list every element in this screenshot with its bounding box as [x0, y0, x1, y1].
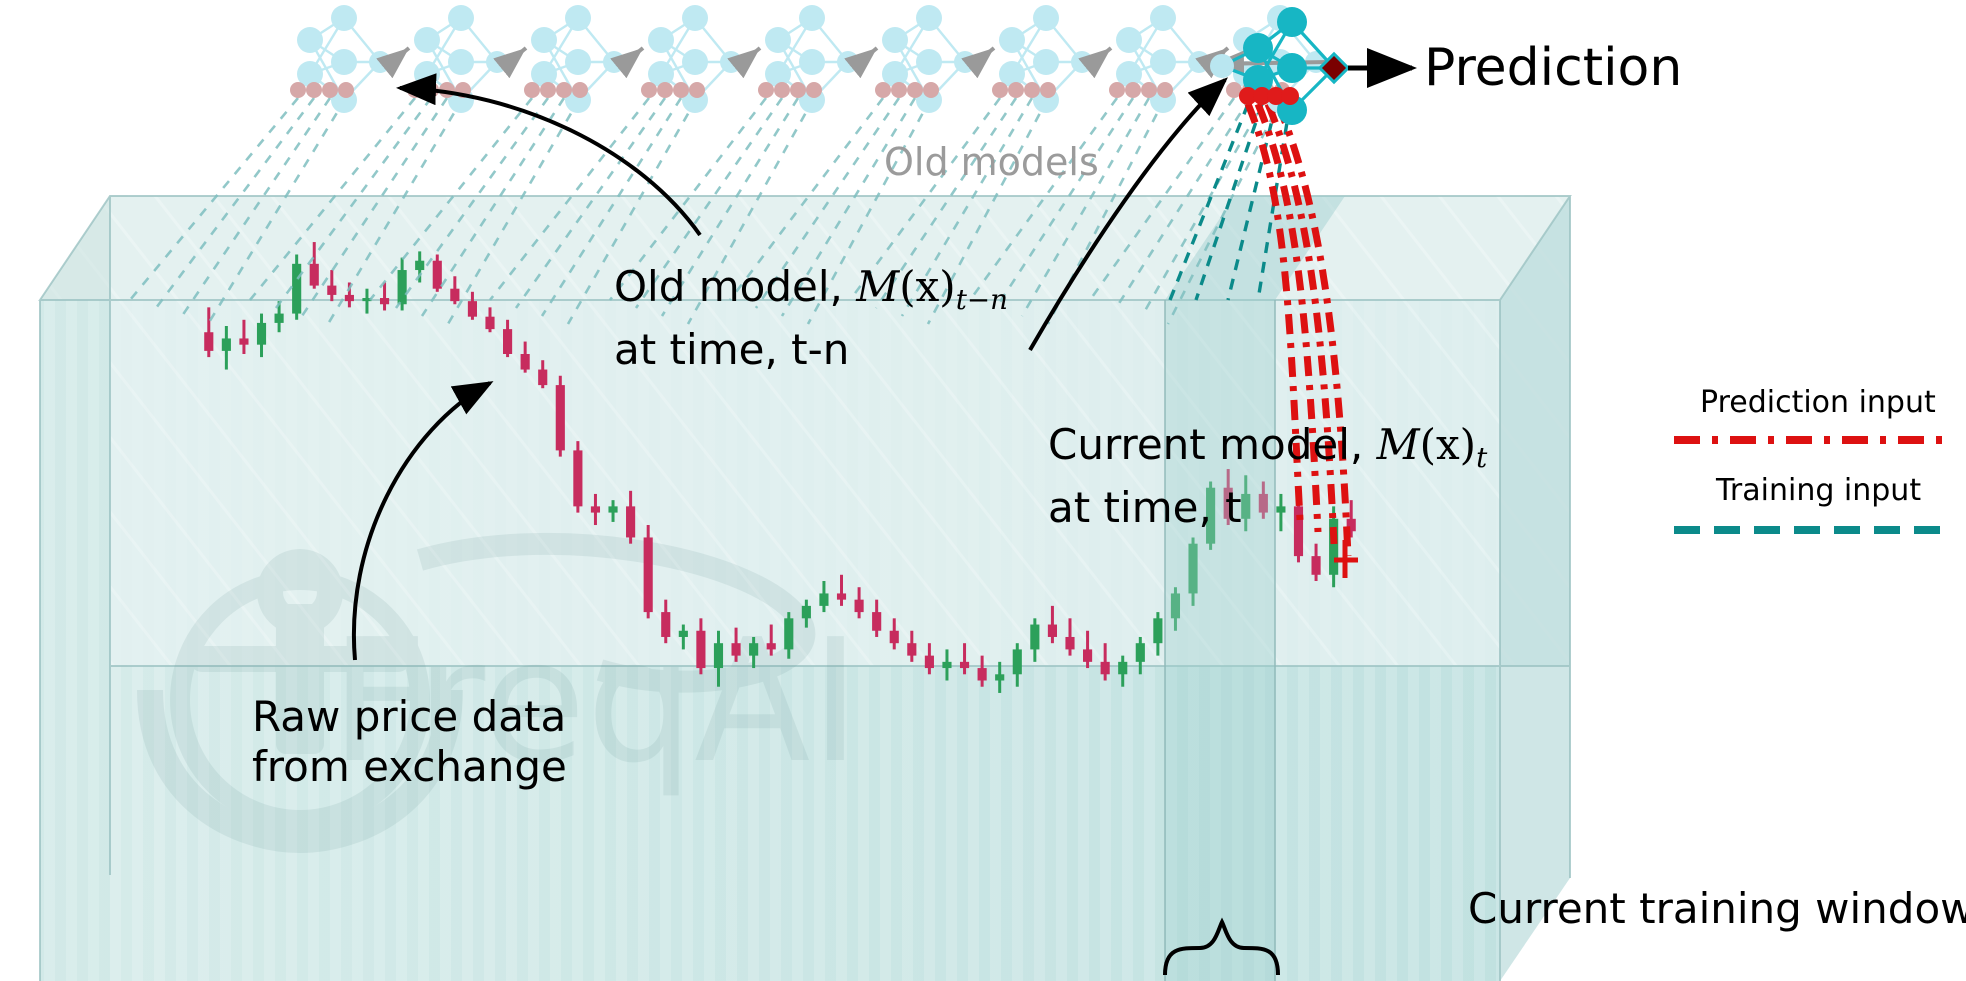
- model-progression-arrow: [626, 48, 643, 62]
- candle-body: [292, 264, 301, 314]
- nn-node: [799, 49, 825, 75]
- candle-body: [1013, 649, 1022, 674]
- candle-body: [978, 668, 987, 680]
- candle-body: [310, 264, 319, 286]
- candle-body: [591, 506, 600, 512]
- candle-body: [1048, 625, 1057, 637]
- nn-node: [1033, 49, 1059, 75]
- nn-node-input-old: [774, 82, 790, 98]
- old-model-math-m: M: [856, 262, 899, 311]
- current-model-annotation: Current model, M(x)tat time, t: [1048, 420, 1487, 533]
- candle-body: [890, 631, 899, 643]
- nn-node: [448, 49, 474, 75]
- nn-node-input-old: [1008, 82, 1024, 98]
- nn-node-input-old: [572, 82, 588, 98]
- candle-body: [925, 656, 934, 668]
- nn-node-input-old: [689, 82, 705, 98]
- nn-node-input-old: [1109, 82, 1125, 98]
- nn-node-input-old: [1141, 82, 1157, 98]
- nn-node-input-old: [1125, 82, 1141, 98]
- candle-body: [538, 370, 547, 386]
- candle-body: [1065, 637, 1074, 649]
- current-model-math-m: M: [1377, 420, 1420, 469]
- nn-node: [882, 27, 908, 53]
- nn-node-input-old: [1040, 82, 1056, 98]
- nn-node-input-old: [657, 82, 673, 98]
- candle-body: [450, 289, 459, 301]
- nn-node-input-old: [673, 82, 689, 98]
- candle-body: [626, 506, 635, 537]
- nn-node-input-old: [1157, 82, 1173, 98]
- candle-body: [521, 354, 530, 370]
- candle-body: [1030, 625, 1039, 650]
- nn-node: [1277, 7, 1307, 37]
- nn-node-output: [720, 51, 742, 73]
- model-progression-arrow: [1094, 48, 1111, 62]
- old-models-label: Old models: [884, 140, 1099, 184]
- nn-node-input-old: [524, 82, 540, 98]
- nn-node: [682, 5, 708, 31]
- candle-body: [644, 537, 653, 612]
- candle-body: [714, 643, 723, 668]
- old-model-math-paren: (x): [899, 262, 955, 311]
- nn-node-input-old: [540, 82, 556, 98]
- model-progression-arrow: [860, 48, 877, 62]
- nn-node-input-old: [806, 82, 822, 98]
- model-progression-arrow: [743, 48, 760, 62]
- candle-body: [942, 662, 951, 668]
- current-model-text-pre: Current model,: [1048, 420, 1377, 469]
- candle-body: [1083, 649, 1092, 661]
- raw-price-line-1: Raw price data: [252, 692, 566, 741]
- nn-node: [682, 49, 708, 75]
- nn-node-output: [1071, 51, 1093, 73]
- nn-node-output: [837, 51, 859, 73]
- nn-node-input-old: [322, 82, 338, 98]
- candle-body: [907, 643, 916, 655]
- current-training-window-label: Current training window: [1468, 884, 1966, 934]
- nn-node-input-old: [758, 82, 774, 98]
- nn-node-output: [486, 51, 508, 73]
- model-progression-arrow: [509, 48, 526, 62]
- candle-body: [222, 338, 231, 350]
- nn-node-input-old: [923, 82, 939, 98]
- candle-body: [573, 450, 582, 506]
- candle-body: [1101, 662, 1110, 674]
- nn-node: [1116, 27, 1142, 53]
- nn-node: [916, 49, 942, 75]
- nn-node-output: [1188, 51, 1210, 73]
- box-right-face: [1500, 196, 1570, 981]
- old-model-math-subscript: t−n: [956, 283, 1008, 316]
- old-model-text-line2: at time, t-n: [614, 325, 849, 374]
- candle-body: [661, 612, 670, 637]
- candle-body: [556, 385, 565, 450]
- current-model-math-paren: (x): [1420, 420, 1476, 469]
- candle-body: [802, 606, 811, 618]
- nn-node: [916, 5, 942, 31]
- candle-body: [767, 643, 776, 649]
- diagram-canvas: FreqAI: [0, 0, 1966, 981]
- candle-body: [485, 317, 494, 329]
- candle-body: [960, 662, 969, 668]
- candle-body: [837, 593, 846, 599]
- nn-node: [448, 5, 474, 31]
- candle-body: [1118, 662, 1127, 674]
- current-model-math-subscript: t: [1476, 441, 1487, 474]
- nn-node-output: [369, 51, 391, 73]
- candle-body: [749, 643, 758, 655]
- legend-label-training-input: Training input: [1716, 473, 1921, 508]
- nn-node: [799, 5, 825, 31]
- candle-body: [398, 270, 407, 304]
- legend-label-prediction-input: Prediction input: [1700, 385, 1936, 420]
- nn-node-output: [954, 51, 976, 73]
- candle-body: [1153, 618, 1162, 643]
- candle-body: [380, 298, 389, 304]
- nn-node-input-old: [875, 82, 891, 98]
- candle-body: [995, 674, 1004, 680]
- nn-node: [1150, 49, 1176, 75]
- candle-body: [819, 593, 828, 605]
- candle-body: [1311, 556, 1320, 575]
- candle-body: [784, 618, 793, 649]
- candle-body: [204, 332, 213, 351]
- nn-node-input-old: [306, 82, 322, 98]
- raw-price-line-2: from exchange: [252, 742, 567, 791]
- nn-node-input-old: [290, 82, 306, 98]
- model-progression-arrow: [392, 48, 409, 62]
- candle-body: [1136, 643, 1145, 662]
- nn-node: [414, 27, 440, 53]
- old-model-networks: [290, 5, 1328, 113]
- candle-body: [345, 295, 354, 301]
- nn-node: [1243, 33, 1273, 63]
- candle-body: [731, 643, 740, 655]
- prediction-label: Prediction: [1424, 38, 1682, 98]
- raw-price-annotation: Raw price datafrom exchange: [252, 692, 567, 792]
- candle-body: [239, 338, 248, 344]
- nn-node-input-old: [641, 82, 657, 98]
- nn-node-input-old: [907, 82, 923, 98]
- old-model-text-pre: Old model,: [614, 262, 856, 311]
- nn-node: [1033, 5, 1059, 31]
- nn-node: [331, 5, 357, 31]
- nn-node: [648, 27, 674, 53]
- candle-body: [503, 329, 512, 354]
- nn-node: [1150, 5, 1176, 31]
- nn-node-input-old: [891, 82, 907, 98]
- nn-node: [765, 27, 791, 53]
- nn-node-input: [1210, 54, 1234, 78]
- candle-body: [257, 323, 266, 345]
- nn-node: [999, 27, 1025, 53]
- candle-body: [415, 261, 424, 270]
- candle-body: [855, 600, 864, 612]
- candle-body: [327, 286, 336, 295]
- old-model-annotation: Old model, M(x)t−nat time, t-n: [614, 262, 1008, 375]
- nn-node: [531, 27, 557, 53]
- candle-body: [696, 631, 705, 668]
- nn-node-output: [603, 51, 625, 73]
- nn-node-input-old: [1024, 82, 1040, 98]
- model-progression-arrow: [977, 48, 994, 62]
- nn-node-input-old: [338, 82, 354, 98]
- nn-node: [1277, 53, 1307, 83]
- candle-body: [872, 612, 881, 631]
- nn-node: [331, 49, 357, 75]
- candle-body: [433, 261, 442, 289]
- nn-node-input-old: [992, 82, 1008, 98]
- candle-body: [608, 506, 617, 512]
- nn-node-input-old: [790, 82, 806, 98]
- candle-body: [468, 301, 477, 317]
- nn-node: [297, 27, 323, 53]
- current-model-text-line2: at time, t: [1048, 483, 1242, 532]
- nn-node: [565, 49, 591, 75]
- nn-node-input-old: [556, 82, 572, 98]
- nn-node: [565, 5, 591, 31]
- candle-body: [679, 631, 688, 637]
- candle-body: [275, 314, 284, 323]
